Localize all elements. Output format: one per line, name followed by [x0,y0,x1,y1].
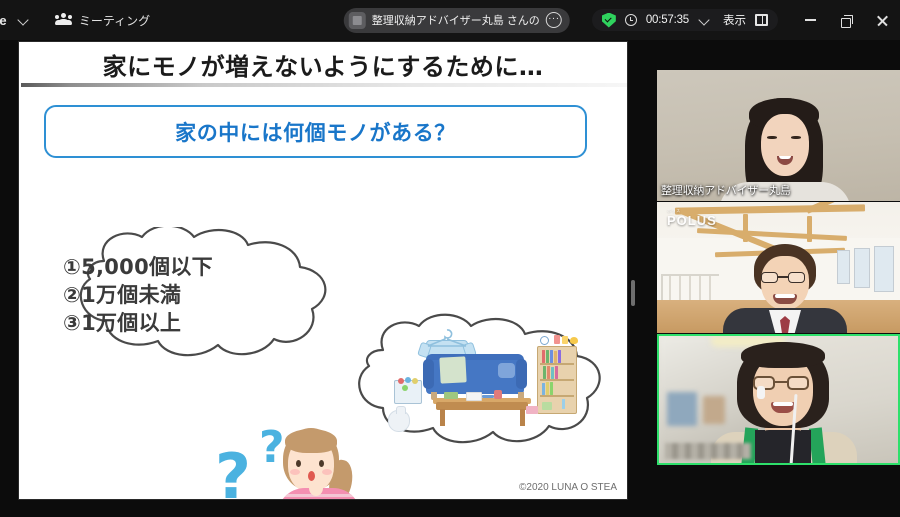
screen-share-banner[interactable]: 整理収納アドバイザー丸島 さんの ··· [344,8,570,33]
choice-item-1: ①5,000個以下 [63,254,213,282]
coffee-table-body [436,402,528,410]
toolbar-right-group: 00:57:35 表示 [592,0,900,40]
close-icon [877,15,888,26]
sofa-arm-left [423,359,434,389]
slide-title: 家にモノが増えないようにするために… [19,47,627,82]
more-options-icon[interactable]: ··· [546,12,562,28]
meeting-status-cluster: 00:57:35 表示 [592,9,778,31]
toolbar-left-group: ce ミーティング [0,12,150,29]
close-button[interactable] [864,0,900,40]
floor-clutter-1 [526,406,538,414]
table-leg-left [440,409,445,426]
restore-window-button[interactable] [828,0,864,40]
table-clutter-paper [466,392,482,401]
chevron-down-icon[interactable] [17,13,31,27]
table-clutter-pen [482,395,494,398]
floor-clutter-2 [542,402,552,410]
toolbar-center-group: 整理収納アドバイザー丸島 さんの ··· [344,8,570,33]
shopping-bag-icon [388,410,410,432]
table-clutter-book [444,392,458,399]
table-clutter-cup [494,390,502,399]
question-callout-box: 家の中には何個モノがある？ [44,105,587,158]
question-callout-text: 家の中には何個モノがある？ [175,117,456,147]
participant-tile-1[interactable]: 整理収納アドバイザー丸島 [657,70,900,201]
meeting-timer: 00:57:35 [646,14,689,26]
shelf-clock-icon [540,336,549,345]
sofa-arm-right [516,359,527,389]
shelf-jar-2 [562,336,568,344]
slide-copyright: ©2020 LUNA O STEA [519,482,617,493]
woman-fringe [285,429,337,453]
participant-filmstrip: 整理収納アドバイザー丸島 [657,70,900,470]
share-pill-label: 整理収納アドバイザー丸島 さんの [372,12,540,28]
tile-3-video-feed [659,336,898,463]
clock-icon [625,14,637,26]
shelf-duck-toy [570,337,578,344]
choice-item-2: ②1万個未満 [63,282,213,310]
title-divider [21,83,627,87]
view-menu-label[interactable]: 表示 [723,12,746,28]
shared-screen-slide[interactable]: 家にモノが増えないようにするために… 家の中には何個モノがある？ ①5,000個… [18,41,628,500]
people-icon [55,13,72,27]
meeting-menu-button[interactable]: ミーティング [55,12,150,29]
screen-thumbnail-icon [349,12,366,29]
minimize-button[interactable] [792,0,828,40]
meeting-toolbar: ce ミーティング 整理収納アドバイザー丸島 さんの ··· 00:57:35 [0,0,900,40]
polus-watermark: ポラス POLUS [667,208,717,228]
timer-chevron-down-icon[interactable] [698,13,712,27]
meeting-menu-label: ミーティング [79,12,150,29]
table-leg-right [520,409,525,426]
layout-view-icon[interactable] [755,14,768,26]
minimize-icon [805,19,816,21]
app-name-label: ce [0,13,7,28]
participant-tile-3-active-speaker[interactable] [657,334,900,465]
woman-eye-right [319,460,324,467]
sofa-blanket [439,356,466,383]
woman-cheek-right [322,469,332,475]
choice-list: ①5,000個以下 ②1万個未満 ③1万個以上 [63,254,213,338]
panel-resize-handle[interactable] [631,280,635,306]
toy-box-icon [394,380,422,404]
cluttered-living-room-illustration [374,332,589,444]
encryption-shield-icon[interactable] [602,13,616,28]
polus-watermark-main: POLUS [667,213,717,228]
thinking-woman-illustration [267,424,377,500]
choice-item-3: ③1万個以上 [63,310,213,338]
participant-tile-2[interactable]: ポラス POLUS [657,202,900,333]
restore-window-icon [841,15,852,26]
polus-watermark-sub: ポラス [667,208,717,214]
woman-eye-left [296,460,301,467]
question-mark-large: ? [215,440,251,500]
sofa-cushion [498,363,515,378]
woman-cheek-left [290,469,300,475]
participant-name-label-1: 整理収納アドバイザー丸島 [661,182,791,198]
meeting-window: ce ミーティング 整理収納アドバイザー丸島 さんの ··· 00:57:35 [0,0,900,517]
shelf-jar-1 [554,335,560,344]
